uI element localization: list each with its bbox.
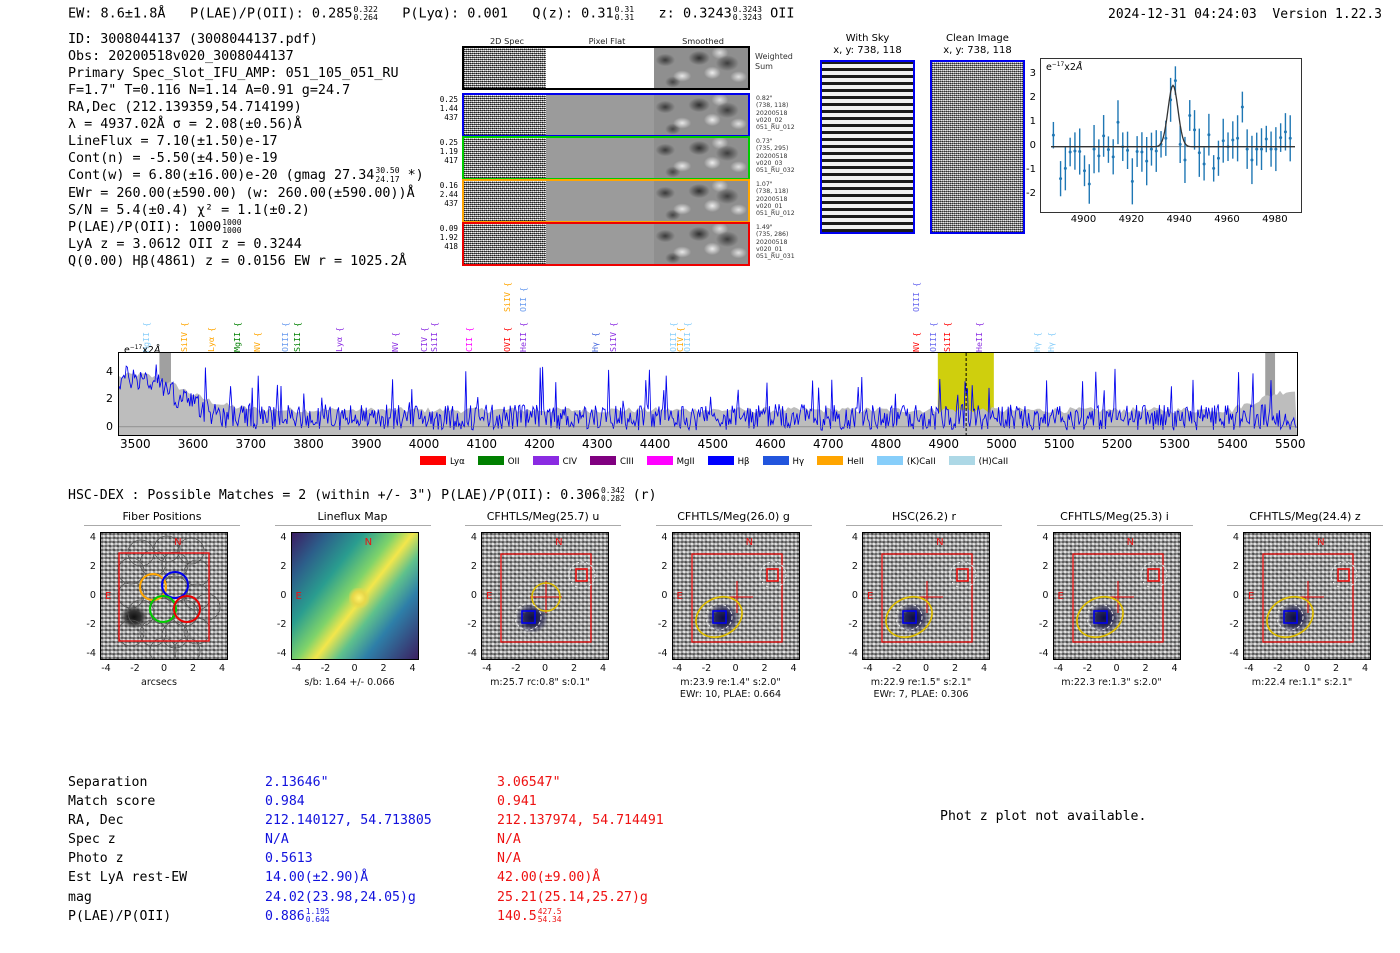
header-ew: EW: 8.6±1.8Å	[68, 5, 166, 21]
spectrum-line-label: OIII {	[929, 322, 937, 352]
x-tick-label: 4700	[804, 437, 852, 451]
table-row: Match score0.9840.941	[68, 792, 665, 811]
table-row-label: RA, Dec	[68, 811, 264, 830]
weighted-sum-line1: Weighted	[755, 52, 793, 62]
with-sky-image	[820, 60, 915, 234]
legend-label: CIII	[620, 457, 634, 467]
header-plya: P(Lyα): 0.001	[402, 5, 508, 21]
cutout-caption: m:22.3 re:1.3" s:2.0"	[1017, 677, 1207, 689]
header-z-lo: 0.3243	[733, 13, 762, 21]
legend-item: (K)CaII	[877, 456, 936, 467]
cutout-overlay	[673, 533, 800, 660]
cutout-image[interactable]: NE	[481, 532, 609, 660]
match-table-grid: Separation2.13646"3.06547"Match score0.9…	[68, 773, 665, 926]
x-tick-label: 3800	[285, 437, 333, 451]
legend-label: CIV	[563, 457, 577, 467]
table-cell-match1: 0.8861.1950.644	[264, 907, 496, 926]
cutout-panel[interactable]: Lineflux MapNE420-2-4-4-2024s/b: 1.64 +/…	[255, 510, 445, 740]
spectrum-line-label: SiII {	[293, 322, 301, 352]
table-row-label: Est LyA rest-EW	[68, 868, 264, 887]
timestamp: 2024-12-31 04:24:03	[1108, 7, 1257, 22]
x-tick-label: 3500	[111, 437, 159, 451]
cutout-y-tick: 4	[74, 532, 96, 543]
cutout-y-tick: -4	[646, 648, 668, 659]
x-tick-label: 5400	[1208, 437, 1256, 451]
cutout-y-tick: 4	[1027, 532, 1049, 543]
cutout-x-tick: 4	[210, 663, 234, 674]
cutout-caption-line1: m:25.7 rc:0.8" s:0.1"	[445, 677, 635, 689]
full-spectrum-plot	[118, 352, 1298, 436]
table-cell-match2: N/A	[496, 849, 665, 868]
info-radec: RA,Dec (212.139359,54.714199)	[68, 99, 424, 116]
legend-label: MgII	[677, 457, 695, 467]
cutout-x-tick: 4	[591, 663, 615, 674]
compass-east: E	[486, 591, 492, 602]
spectrum-line-label: SiIV {	[180, 322, 188, 352]
cutout-caption: m:22.4 re:1.1" s:2.1"	[1207, 677, 1397, 689]
legend-label: (K)CaII	[907, 457, 936, 467]
y-tick-label: 2	[106, 392, 113, 405]
cutout-image[interactable]: NE	[862, 532, 990, 660]
info-plae-lo: 1000	[222, 227, 241, 235]
compass-east: E	[296, 591, 302, 602]
x-tick-label: 4980	[1259, 214, 1291, 225]
compass-east: E	[1058, 591, 1064, 602]
x-tick-label: 4960	[1211, 214, 1243, 225]
cutout-y-tick: -2	[646, 619, 668, 630]
info-id: ID: 3008044137 (3008044137.pdf)	[68, 31, 424, 48]
emission-line-yaxis: -2-10123	[1012, 58, 1038, 213]
compass-east: E	[105, 591, 111, 602]
cutout-overlay	[1244, 533, 1371, 660]
cutout-x-tick: -4	[1237, 663, 1261, 674]
cutout-caption-line2: EWr: 7, PLAE: 0.306	[826, 689, 1016, 701]
spec2d-fiber-row	[462, 222, 750, 266]
x-tick-label: 4600	[747, 437, 795, 451]
x-tick-label: 4200	[516, 437, 564, 451]
cutout-x-tick: -2	[504, 663, 528, 674]
spectrum-line-label: Lyα {	[207, 327, 215, 352]
table-cell-match2: 25.21(25.14,25.27)g	[496, 888, 665, 907]
cutout-image[interactable]: NE	[1243, 532, 1371, 660]
cutout-x-tick: -4	[285, 663, 309, 674]
cutout-y-tick: -4	[836, 648, 858, 659]
spectrum-line-label: HeII {	[519, 322, 527, 352]
clean-image-title: Clean Image	[946, 33, 1009, 44]
cutout-caption-line2: EWr: 10, PLAE: 0.664	[636, 689, 826, 701]
lineflux-peak	[349, 588, 369, 608]
table-cell-match1: 212.140127, 54.713805	[264, 811, 496, 830]
table-cell-match1: 14.00(±2.90)Å	[264, 868, 496, 887]
cutout-y-tick: 0	[455, 590, 477, 601]
cutout-x-tick: -2	[1076, 663, 1100, 674]
y-tick-label: 0	[106, 420, 113, 433]
x-tick-label: 4800	[862, 437, 910, 451]
spectrum-line-label: Lyα {	[335, 327, 343, 352]
table-cell-match2: 3.06547"	[496, 773, 665, 792]
cutout-caption-line1: m:23.9 re:1.4" s:2.0"	[636, 677, 826, 689]
cutout-x-tick: 4	[1353, 663, 1377, 674]
cutout-y-tick: 0	[74, 590, 96, 601]
table-cell-match2: N/A	[496, 830, 665, 849]
cutout-y-tick: -2	[1217, 619, 1239, 630]
cutout-x-tick: 4	[972, 663, 996, 674]
table-row: Spec zN/AN/A	[68, 830, 665, 849]
y-tick-label: 1	[1030, 116, 1036, 127]
legend-swatch	[590, 456, 616, 465]
y-tick-label: 3	[1030, 68, 1036, 79]
spectrum-line-label: OIII {	[683, 322, 691, 352]
x-tick-label: 3900	[342, 437, 390, 451]
x-tick-label: 5100	[1035, 437, 1083, 451]
legend-swatch	[708, 456, 734, 465]
cutout-x-tick: -2	[695, 663, 719, 674]
weighted-sum-line2: Sum	[755, 62, 793, 72]
spectrum-line-label: Hγ {	[1033, 332, 1041, 352]
cutout-x-tick: 4	[782, 663, 806, 674]
info-cont-w-lo: 24.17	[375, 176, 399, 184]
cutout-overlay	[482, 533, 609, 660]
cutout-image[interactable]: NE	[100, 532, 228, 660]
spectrum-line-label: Hγ {	[1047, 332, 1055, 352]
x-tick-label: 4300	[573, 437, 621, 451]
spectrum-line-label: NV {	[391, 332, 399, 352]
table-row: mag24.02(23.98,24.05)g25.21(25.14,25.27)…	[68, 888, 665, 907]
cutout-x-tick: 0	[533, 663, 557, 674]
cutout-y-tick: 2	[1027, 561, 1049, 572]
spec2d-title-smoothed: Smoothed	[658, 36, 748, 46]
info-primary-spec: Primary Spec_Slot_IFU_AMP: 051_105_051_R…	[68, 65, 424, 82]
legend-item: CIII	[590, 456, 634, 467]
compass-north: N	[1317, 537, 1324, 548]
x-tick-label: 4940	[1163, 214, 1195, 225]
x-tick-label: 4400	[631, 437, 679, 451]
info-ewr: EWr = 260.00(±590.00) (w: 260.00(±590.00…	[68, 185, 424, 202]
table-row-label: Separation	[68, 773, 264, 792]
cutout-y-tick: 0	[1027, 590, 1049, 601]
legend-swatch	[877, 456, 903, 465]
legend-item: MgII	[647, 456, 695, 467]
legend-swatch	[478, 456, 504, 465]
cutout-image[interactable]: NE	[672, 532, 800, 660]
table-row: P(LAE)/P(OII)0.8861.1950.644140.5427.554…	[68, 907, 665, 926]
photz-note: Phot z plot not available.	[940, 809, 1146, 824]
cutout-x-tick: 0	[343, 663, 367, 674]
legend-label: OII	[508, 457, 520, 467]
info-cont-w: Cont(w) = 6.80(±16.00)e-20 (gmag 27.3430…	[68, 167, 424, 184]
cutout-y-tick: -2	[265, 619, 287, 630]
info-cont-n: Cont(n) = -5.50(±4.50)e-19	[68, 150, 424, 167]
info-plae-label: P(LAE)/P(OII): 1000	[68, 220, 221, 235]
x-tick-label: 5000	[978, 437, 1026, 451]
cutout-caption: m:22.9 re:1.5" s:2.1"EWr: 7, PLAE: 0.306	[826, 677, 1016, 700]
cutout-x-tick: -2	[885, 663, 909, 674]
cutout-y-tick: -4	[265, 648, 287, 659]
legend-item: (H)CaII	[949, 456, 1009, 467]
spectrum-line-label: SiIV {	[609, 322, 617, 352]
cutout-image[interactable]: NE	[1053, 532, 1181, 660]
table-cell-match2: 42.00(±9.00)Å	[496, 868, 665, 887]
legend-item: OII	[478, 456, 520, 467]
table-row-label: Match score	[68, 792, 264, 811]
spec2d-fiber-row	[462, 93, 750, 137]
cutout-overlay	[863, 533, 990, 660]
compass-east: E	[677, 591, 683, 602]
compass-north: N	[936, 537, 943, 548]
spectrum-line-label: NV {	[253, 332, 261, 352]
table-row-label: mag	[68, 888, 264, 907]
info-cont-w-post: *)	[408, 169, 424, 184]
cutout-x-tick: 0	[1105, 663, 1129, 674]
cutout-y-tick: 4	[265, 532, 287, 543]
match-table: Separation2.13646"3.06547"Match score0.9…	[68, 773, 665, 926]
cutout-y-tick: 4	[646, 532, 668, 543]
legend-label: Hβ	[738, 457, 750, 467]
cutout-y-tick: 4	[1217, 532, 1239, 543]
legend-label: Lyα	[450, 457, 465, 467]
cutout-title: CFHTLS/Meg(26.0) g	[656, 510, 812, 526]
info-seeing: F=1.7" T=0.116 N=1.14 A=0.91 g=24.7	[68, 82, 424, 99]
cutout-title: CFHTLS/Meg(25.7) u	[465, 510, 621, 526]
cutout-title: CFHTLS/Meg(25.3) i	[1037, 510, 1193, 526]
cutout-x-tick: 0	[724, 663, 748, 674]
cutout-caption-line1: m:22.9 re:1.5" s:2.1"	[826, 677, 1016, 689]
cutout-x-tick: -2	[1266, 663, 1290, 674]
cutout-y-tick: -2	[74, 619, 96, 630]
spectrum-units-annotation: e−17x2Å	[124, 345, 160, 356]
cutout-caption: arcsecs	[64, 677, 254, 689]
x-tick-label: 4100	[458, 437, 506, 451]
table-cell-match1: 24.02(23.98,24.05)g	[264, 888, 496, 907]
spectrum-legend: LyαOIICIVCIIIMgIIHβHγHeII(K)CaII(H)CaII	[420, 456, 1021, 467]
header-qz-label: Q(z):	[532, 5, 573, 21]
x-tick-label: 4920	[1115, 214, 1147, 225]
table-row-label: Spec z	[68, 830, 264, 849]
spectrum-line-label: CII {	[465, 327, 473, 352]
with-sky-panel: With Sky x, y: 738, 118	[820, 33, 915, 234]
fiber-overlay	[101, 533, 228, 660]
table-cell-match1: 2.13646"	[264, 773, 496, 792]
info-plae: P(LAE)/P(OII): 100010001000	[68, 219, 424, 236]
cutout-x-tick: -4	[475, 663, 499, 674]
spec2d-row-meta: 0.82"(738, 118)20200518v020_02051_RU_012	[756, 95, 816, 131]
cutout-x-tick: -2	[123, 663, 147, 674]
cutout-y-tick: -2	[455, 619, 477, 630]
table-row: Photo z0.5613N/A	[68, 849, 665, 868]
cutout-panel[interactable]: HSC(26.2) rNE420-2-4-4-2024m:22.9 re:1.5…	[826, 510, 1016, 740]
cutout-row: Fiber PositionsNE420-2-4-4-2024arcsecsLi…	[56, 510, 1396, 740]
cutout-y-tick: -4	[1027, 648, 1049, 659]
cutout-panel[interactable]: CFHTLS/Meg(25.3) iNE420-2-4-4-2024m:22.3…	[1017, 510, 1207, 740]
spec2d-weighted-sum-label: Weighted Sum	[755, 52, 793, 71]
with-sky-title: With Sky	[846, 33, 890, 44]
spectrum-line-label: MgII {	[233, 322, 241, 352]
legend-label: HeII	[847, 457, 864, 467]
spec2d-title-2dspec: 2D Spec	[462, 36, 552, 46]
cutout-title: Fiber Positions	[84, 510, 240, 526]
x-tick-label: 4500	[689, 437, 737, 451]
hsc-headline-text: HSC-DEX : Possible Matches = 2 (within +…	[68, 488, 600, 503]
cutout-panel[interactable]: CFHTLS/Meg(25.7) uNE420-2-4-4-2024m:25.7…	[445, 510, 635, 740]
emission-line-svg	[1041, 59, 1301, 212]
cutout-panel[interactable]: Fiber PositionsNE420-2-4-4-2024arcsecs	[64, 510, 254, 740]
cutout-x-tick: 2	[372, 663, 396, 674]
header-plae-value: 0.285	[312, 5, 353, 21]
cutout-x-tick: 0	[152, 663, 176, 674]
cutout-caption: m:25.7 rc:0.8" s:0.1"	[445, 677, 635, 689]
x-tick-label: 5500	[1266, 437, 1314, 451]
emission-line-units-annotation: e−17x2Å	[1046, 62, 1082, 73]
cutout-y-tick: 0	[646, 590, 668, 601]
y-tick-label: -2	[1026, 188, 1036, 199]
cutout-y-tick: 4	[836, 532, 858, 543]
cutout-caption-line1: m:22.4 re:1.1" s:2.1"	[1207, 677, 1397, 689]
spectrum-line-label: OVI {	[503, 327, 511, 352]
compass-east: E	[867, 591, 873, 602]
cutout-y-tick: 2	[455, 561, 477, 572]
compass-north: N	[746, 537, 753, 548]
cutout-y-tick: -4	[74, 648, 96, 659]
y-tick-label: 0	[1030, 140, 1036, 151]
legend-item: Lyα	[420, 456, 465, 467]
spectrum-line-label: OIII {	[912, 282, 920, 312]
table-row: Separation2.13646"3.06547"	[68, 773, 665, 792]
spec2d-fiber-row	[462, 179, 750, 223]
cutout-x-tick: 2	[562, 663, 586, 674]
cutout-title: HSC(26.2) r	[846, 510, 1002, 526]
spectrum-line-label: SiII {	[943, 322, 951, 352]
info-lambda: λ = 4937.02Å σ = 2.08(±0.56)Å	[68, 116, 424, 133]
cutout-x-tick: 2	[1134, 663, 1158, 674]
clean-image-image	[930, 60, 1025, 234]
x-tick-label: 5200	[1093, 437, 1141, 451]
spec2d-row-numbers: 0.162.44437	[424, 181, 458, 209]
cutout-x-tick: 0	[914, 663, 938, 674]
table-cell-match1: 0.984	[264, 792, 496, 811]
x-tick-label: 4900	[920, 437, 968, 451]
cutout-y-tick: 4	[455, 532, 477, 543]
legend-swatch	[647, 456, 673, 465]
x-tick-label: 5300	[1151, 437, 1199, 451]
header-z-value: 0.3243	[683, 5, 732, 21]
full-spectrum-svg	[119, 353, 1297, 435]
header-qz-value: 0.31	[581, 5, 614, 21]
table-row-label: P(LAE)/P(OII)	[68, 907, 264, 926]
clean-image-panel: Clean Image x, y: 738, 118	[930, 33, 1025, 234]
cutout-title: Lineflux Map	[275, 510, 431, 526]
header-plae-lo: 0.264	[354, 13, 378, 21]
compass-north: N	[555, 537, 562, 548]
cutout-y-tick: -4	[1217, 648, 1239, 659]
cutout-image[interactable]: NE	[291, 532, 419, 660]
cutout-caption-line1: arcsecs	[64, 677, 254, 689]
cutout-caption: m:23.9 re:1.4" s:2.0"EWr: 10, PLAE: 0.66…	[636, 677, 826, 700]
cutout-x-tick: -2	[314, 663, 338, 674]
spec2d-weighted-sum-panel	[462, 46, 750, 90]
cutout-panel[interactable]: CFHTLS/Meg(26.0) gNE420-2-4-4-2024m:23.9…	[636, 510, 826, 740]
cutout-x-tick: 4	[1163, 663, 1187, 674]
spectrum-line-label: OIII {	[281, 322, 289, 352]
cutout-y-tick: 0	[1217, 590, 1239, 601]
spec2d-row-meta: 0.73"(735, 295)20200518v020_03051_RU_032	[756, 138, 816, 174]
cutout-y-tick: 2	[265, 561, 287, 572]
cutout-y-tick: 2	[836, 561, 858, 572]
cutout-x-tick: -4	[666, 663, 690, 674]
spec2d-row-meta: 1.07"(738, 118)20200518v020_01051_RU_012	[756, 181, 816, 217]
header-summary-line: EW: 8.6±1.8Å P(LAE)/P(OII): 0.2850.3220.…	[68, 5, 795, 22]
spec2d-row-numbers: 0.251.44437	[424, 95, 458, 123]
header-z-label: z:	[659, 5, 675, 21]
cutout-y-tick: -2	[836, 619, 858, 630]
cutout-caption-line1: s/b: 1.64 +/- 0.066	[255, 677, 445, 689]
cutout-panel[interactable]: CFHTLS/Meg(24.4) zNE420-2-4-4-2024m:22.4…	[1207, 510, 1397, 740]
emission-line-plot	[1040, 58, 1302, 213]
spectrum-line-label: Hγ {	[591, 332, 599, 352]
legend-item: Hβ	[708, 456, 750, 467]
y-tick-label: 4	[106, 365, 113, 378]
info-redshifts: LyA z = 3.0612 OII z = 0.3244	[68, 236, 424, 253]
spectrum-line-label: NV {	[912, 332, 920, 352]
header-z-species: OII	[770, 5, 794, 21]
cutout-overlay	[1054, 533, 1181, 660]
hsc-headline-post: (r)	[633, 488, 657, 503]
x-tick-label: 3600	[169, 437, 217, 451]
legend-swatch	[817, 456, 843, 465]
cutout-x-tick: 0	[1295, 663, 1319, 674]
cutout-y-tick: 2	[1217, 561, 1239, 572]
legend-item: CIV	[533, 456, 577, 467]
legend-label: Hγ	[793, 457, 805, 467]
spec2d-row-numbers: 0.251.19417	[424, 138, 458, 166]
legend-label: (H)CaII	[979, 457, 1009, 467]
hsc-headline-lo: 0.282	[601, 495, 625, 503]
cutout-x-tick: -4	[856, 663, 880, 674]
table-cell-match1: N/A	[264, 830, 496, 849]
detection-info-block: ID: 3008044137 (3008044137.pdf) Obs: 202…	[68, 31, 424, 270]
x-tick-label: 3700	[227, 437, 275, 451]
with-sky-coords: x, y: 738, 118	[833, 45, 902, 56]
info-qline: Q(0.00) Hβ(4861) z = 0.0156 EW r = 1025.…	[68, 253, 424, 270]
legend-item: HeII	[817, 456, 864, 467]
spectrum-line-label: OII {	[519, 287, 527, 312]
spec2d-row-numbers: 0.091.92418	[424, 224, 458, 252]
table-cell-match2: 212.137974, 54.714491	[496, 811, 665, 830]
spectrum-line-label: SiII {	[430, 322, 438, 352]
hsc-dex-headline: HSC-DEX : Possible Matches = 2 (within +…	[68, 487, 657, 503]
cutout-caption-line1: m:22.3 re:1.3" s:2.0"	[1017, 677, 1207, 689]
spec2d-title-pixelflat: Pixel Flat	[562, 36, 652, 46]
info-lineflux: LineFlux = 7.10(±1.50)e-17	[68, 133, 424, 150]
compass-north: N	[365, 537, 372, 548]
cutout-y-tick: 0	[265, 590, 287, 601]
header-timestamp-version: 2024-12-31 04:24:03 Version 1.22.3	[1108, 7, 1382, 22]
spectrum-line-markers: MgII {SiIV {Lyα {MgII {NV {OIII {SiII {L…	[118, 282, 1298, 352]
spectrum-line-label: HeII {	[975, 322, 983, 352]
cutout-x-tick: 2	[943, 663, 967, 674]
legend-swatch	[949, 456, 975, 465]
cutout-x-tick: 2	[753, 663, 777, 674]
table-cell-match2: 0.941	[496, 792, 665, 811]
table-row: RA, Dec212.140127, 54.713805212.137974, …	[68, 811, 665, 830]
compass-east: E	[1248, 591, 1254, 602]
compass-north: N	[174, 537, 181, 548]
version: Version 1.22.3	[1272, 7, 1382, 22]
legend-swatch	[763, 456, 789, 465]
cutout-y-tick: 2	[74, 561, 96, 572]
table-row: Est LyA rest-EW14.00(±2.90)Å42.00(±9.00)…	[68, 868, 665, 887]
spec2d-row-meta: 1.49"(735, 286)20200518v020_01051_RU_031	[756, 224, 816, 260]
y-tick-label: -1	[1026, 164, 1036, 175]
